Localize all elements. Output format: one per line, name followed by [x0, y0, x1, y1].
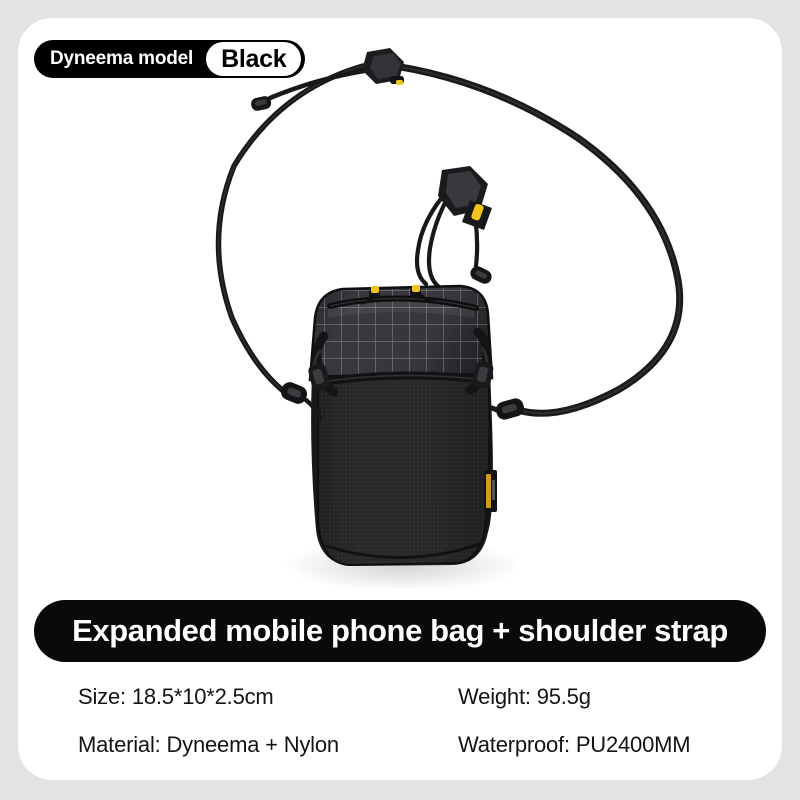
strap-top-buckle — [362, 48, 404, 85]
spec-grid: Size: 18.5*10*2.5cm Weight: 95.5g Materi… — [78, 684, 738, 758]
strap-cordlock-right — [494, 396, 526, 421]
product-photo — [18, 18, 782, 588]
model-badge-type-label: Dyneema model — [34, 40, 206, 78]
strap-center-cordlock — [438, 166, 492, 230]
spec-size: Size: 18.5*10*2.5cm — [78, 684, 458, 710]
model-badge-color-value: Black — [206, 42, 301, 76]
spec-weight: Weight: 95.5g — [458, 684, 738, 710]
headline-banner: Expanded mobile phone bag + shoulder str… — [34, 600, 766, 662]
strap-end-cap-mid — [468, 264, 494, 286]
spec-waterproof: Waterproof: PU2400MM — [458, 732, 738, 758]
spec-material: Material: Dyneema + Nylon — [78, 732, 458, 758]
brand-tag — [484, 470, 497, 512]
top-buckle-yellow-accent — [396, 80, 403, 85]
headline-text: Expanded mobile phone bag + shoulder str… — [72, 613, 728, 649]
model-badge: Dyneema model Black — [34, 40, 305, 78]
product-card: Dyneema model Black — [18, 18, 782, 780]
